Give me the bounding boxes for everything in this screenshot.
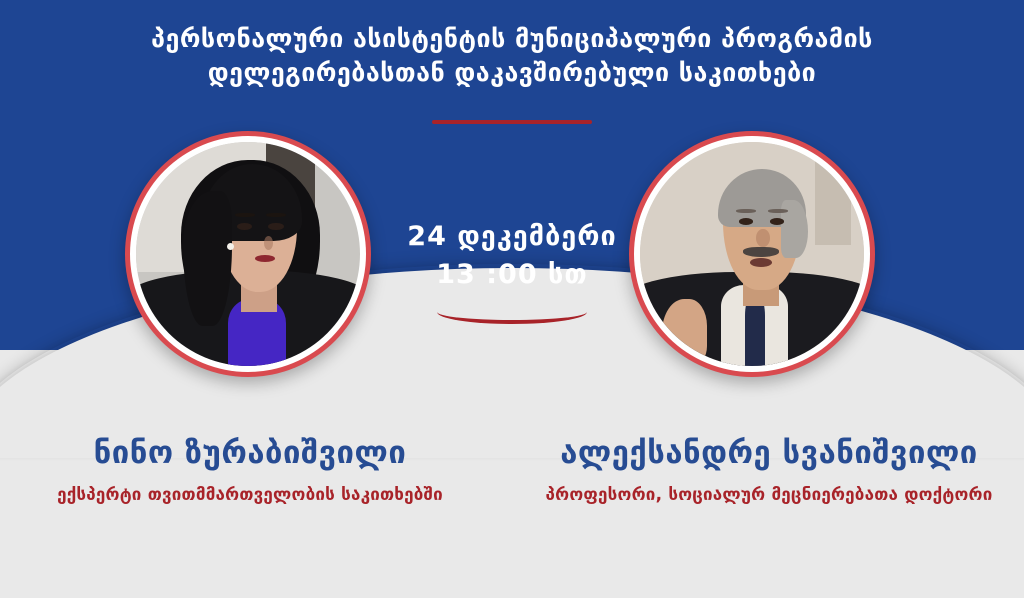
title-line-2: დელეგირებასთან დაკავშირებული საკითხები <box>0 56 1024 90</box>
portrait-photo-nino-zurabishvili <box>136 142 360 366</box>
speaker-name-left: ნინო ზურაბიშვილი <box>0 432 500 474</box>
hair-side-shape <box>183 191 232 325</box>
portrait-image-left <box>136 142 360 366</box>
speaker-caption-right: ალექსანდრე სვანიშვილი პროფესორი, სოციალუ… <box>519 432 1019 507</box>
hand-shape <box>662 299 707 366</box>
eye-left <box>739 218 754 225</box>
nose-shape <box>264 236 273 249</box>
title-line-1: პერსონალური ასისტენტის მუნიციპალური პროგ… <box>0 22 1024 56</box>
portrait-image-right <box>640 142 864 366</box>
eye-right <box>268 223 284 231</box>
event-time: 13 :00 სთ <box>362 256 662 294</box>
event-announcement-poster: პერსონალური ასისტენტის მუნიციპალური პროგ… <box>0 0 1024 598</box>
portrait-white-ring-right <box>634 136 870 372</box>
tie-shape <box>745 299 765 366</box>
moustache-shape <box>743 247 779 257</box>
title-divider-rule <box>432 120 592 124</box>
speaker-role-right: პროფესორი, სოციალურ მეცნიერებათა დოქტორი <box>519 483 1019 507</box>
eyebrow-left <box>235 213 255 217</box>
speaker-portrait-left <box>125 131 371 377</box>
poster-title: პერსონალური ასისტენტის მუნიციპალური პროგ… <box>0 22 1024 90</box>
speaker-role-left: ექსპერტი თვითმმართველობის საკითხებში <box>0 483 500 507</box>
photo-background-column <box>815 142 851 245</box>
event-datetime: 24 დეკემბერი 13 :00 სთ <box>362 218 662 294</box>
datetime-arc-accent <box>437 300 587 324</box>
event-date: 24 დეკემბერი <box>362 218 662 256</box>
speaker-name-right: ალექსანდრე სვანიშვილი <box>519 432 1019 474</box>
eyebrow-right <box>266 213 286 217</box>
eye-right <box>770 218 785 225</box>
portrait-white-ring-left <box>130 136 366 372</box>
speaker-caption-left: ნინო ზურაბიშვილი ექსპერტი თვითმმართველობ… <box>0 432 500 507</box>
speaker-portrait-right <box>629 131 875 377</box>
portrait-photo-aleksandre-svanishvili <box>640 142 864 366</box>
